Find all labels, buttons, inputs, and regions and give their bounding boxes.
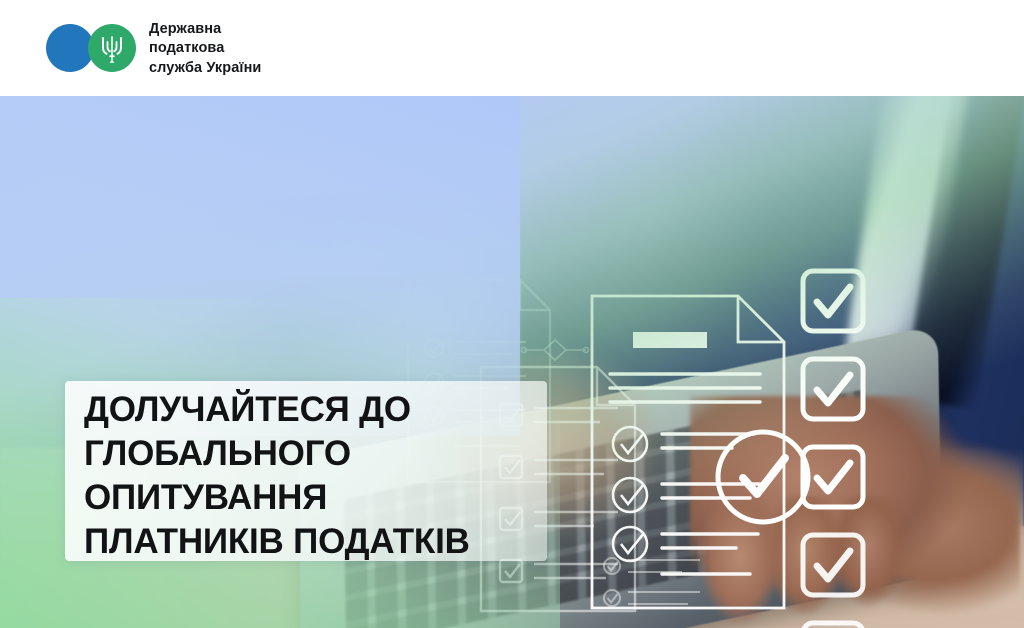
logo-marks bbox=[46, 24, 138, 74]
blue-circle-icon bbox=[46, 24, 94, 72]
page-title: ДОЛУЧАЙТЕСЯ ДО ГЛОБАЛЬНОГО ОПИТУВАННЯ ПЛ… bbox=[84, 388, 604, 564]
headline-line-2: ГЛОБАЛЬНОГО bbox=[84, 432, 604, 476]
organization-name: Державна податкова служба України bbox=[149, 20, 261, 78]
headline-line-3: ОПИТУВАННЯ bbox=[84, 476, 604, 520]
site-header: Державна податкова служба України bbox=[0, 0, 1024, 96]
hero-banner: ДОЛУЧАЙТЕСЯ ДО ГЛОБАЛЬНОГО ОПИТУВАННЯ ПЛ… bbox=[0, 96, 1024, 628]
headline-line-1: ДОЛУЧАЙТЕСЯ ДО bbox=[84, 388, 604, 432]
headline-line-4: ПЛАТНИКІВ ПОДАТКІВ bbox=[84, 520, 604, 564]
ukraine-trident-icon bbox=[100, 34, 124, 63]
logo[interactable]: Державна податкова служба України bbox=[46, 20, 261, 78]
